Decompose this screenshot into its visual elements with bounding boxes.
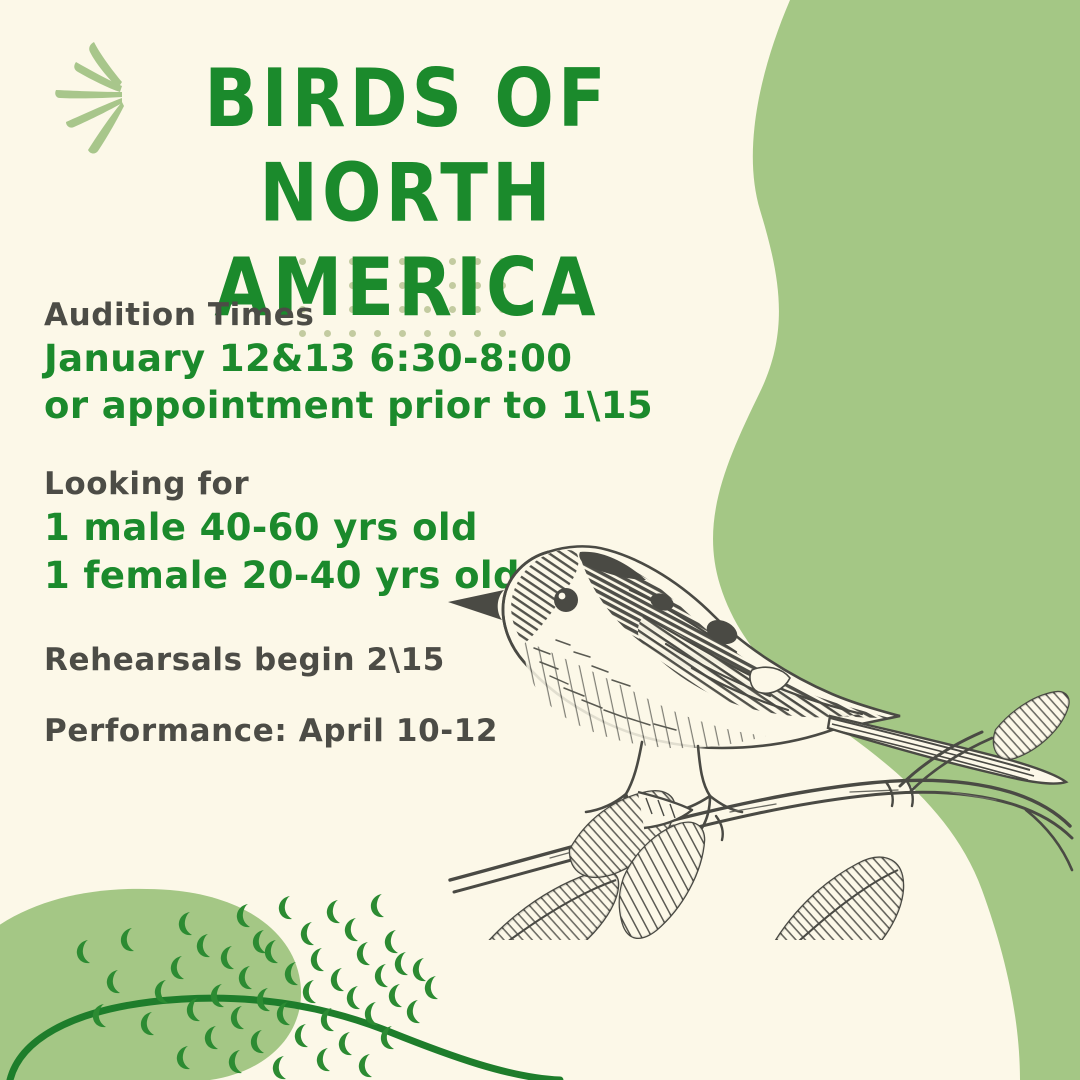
audition-line-1: January 12&13 6:30-8:00 <box>44 335 664 382</box>
bird-on-branch-illustration <box>430 480 1080 940</box>
page-title: BIRDS OF NORTH AMERICA <box>0 52 760 324</box>
title-line-1: BIRDS OF NORTH <box>54 52 760 240</box>
curved-line-stroke <box>10 998 560 1080</box>
audition-section: Audition Times January 12&13 6:30-8:00 o… <box>44 296 664 429</box>
green-blob-shape-bottom-left <box>0 889 301 1080</box>
audition-label: Audition Times <box>44 296 664 335</box>
bird-beak <box>448 590 504 620</box>
audition-line-2: or appointment prior to 1\15 <box>44 382 664 429</box>
bird-eye <box>554 588 578 612</box>
poster-canvas: BIRDS OF NORTH AMERICA Audition Times Ja… <box>0 0 1080 1080</box>
